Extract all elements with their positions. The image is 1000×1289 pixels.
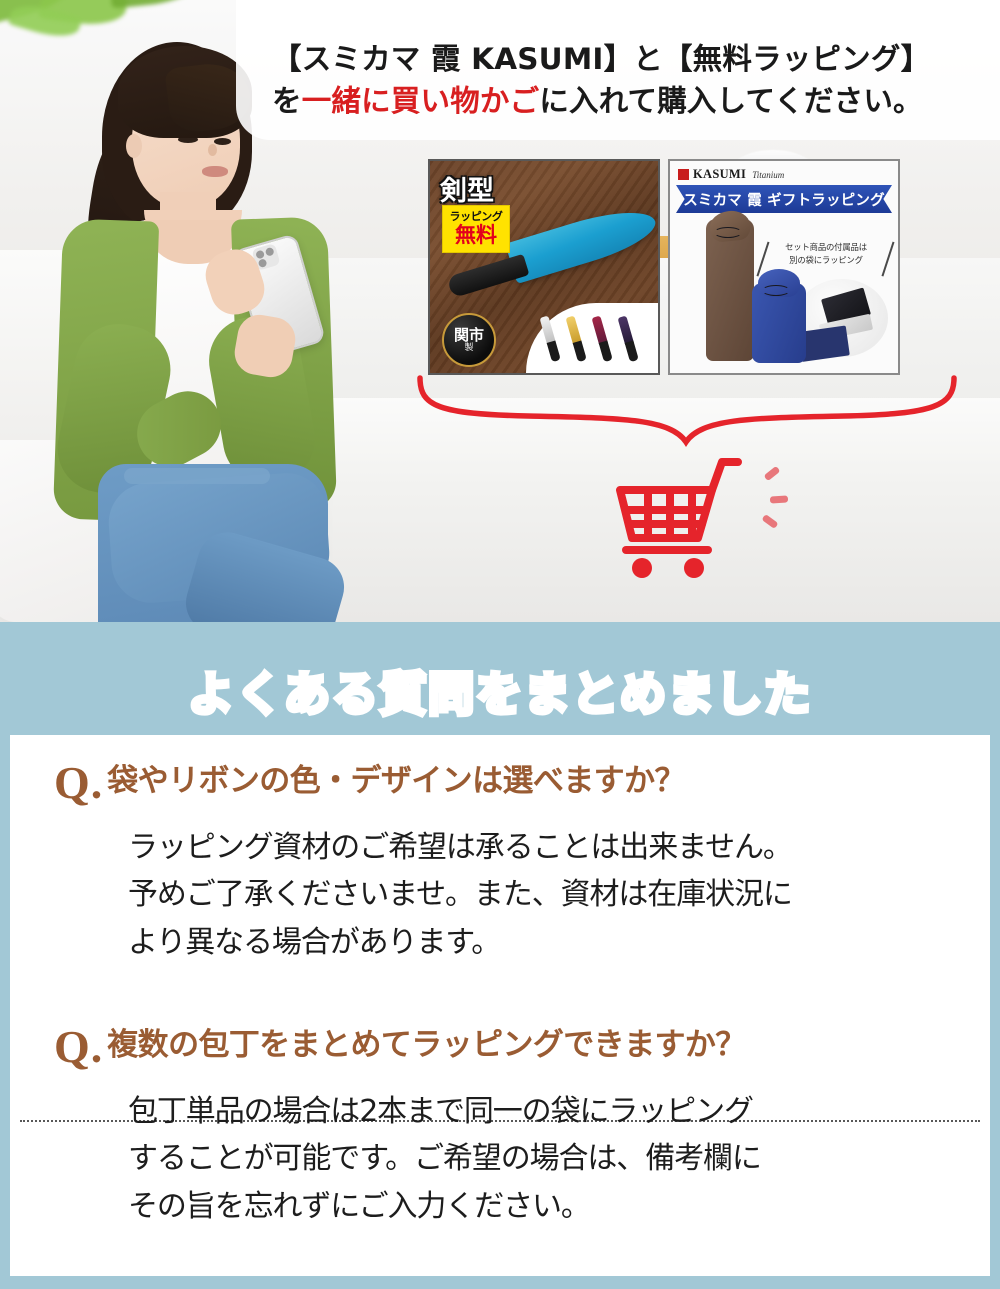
faq-answer-2-line-1: 包丁単品の場合は2本まで同一の袋にラッピング <box>128 1088 990 1135</box>
headline-line-1: 【スミカマ 霞 KASUMI】と【無料ラッピング】 <box>272 38 1000 80</box>
faq-question-row-1: Q . 袋やリボンの色・デザインは選べますか？ <box>10 763 990 806</box>
product-card-knife[interactable]: 剣型 ラッピング 無料 <box>428 159 660 375</box>
faq-question-row-2: Q . 複数の包丁をまとめてラッピングできますか？ <box>10 1027 990 1070</box>
knife-variant-gold <box>565 316 586 363</box>
badge-top-label: ラッピング <box>450 211 503 222</box>
note-text-line-1: セット商品の付属品は <box>774 241 878 254</box>
knife-variant-purple <box>617 316 638 363</box>
q-dot-1: . <box>91 760 103 806</box>
headline: 【スミカマ 霞 KASUMI】と【無料ラッピング】 を一緒に買い物かごに入れて購… <box>272 38 1000 123</box>
badge-bottom-label: 無料 <box>455 224 497 246</box>
faq-answer-1-line-1: ラッピング資材のご希望は承ることは出来ません。 <box>128 824 990 871</box>
faq-card: Q . 袋やリボンの色・デザインは選べますか？ ラッピング資材のご希望は承ること… <box>10 735 990 1276</box>
q-dot-2: . <box>91 1024 103 1070</box>
seal-sub-label: 製 <box>464 344 473 353</box>
promo-page: 【スミカマ 霞 KASUMI】と【無料ラッピング】 を一緒に買い物かごに入れて購… <box>0 0 1000 1289</box>
jeans-waistband <box>124 468 270 484</box>
knife-variant-crimson <box>591 316 612 363</box>
kasumi-logo: KASUMI Titanium <box>678 167 784 182</box>
faq-answer-2: 包丁単品の場合は2本まで同一の袋にラッピング することが可能です。ご希望の場合は… <box>10 1088 990 1230</box>
q-letter-2: Q <box>54 1024 90 1070</box>
knife-type-label: 剣型 <box>440 169 494 208</box>
free-wrapping-badge: ラッピング 無料 <box>442 205 510 253</box>
nose <box>208 144 217 156</box>
faq-answer-2-line-3: その旨を忘れずにご入力ください。 <box>128 1183 990 1230</box>
note-text: セット商品の付属品は 別の袋にラッピング <box>774 241 878 267</box>
wrapping-ribbon-banner: スミカマ 霞 ギフトラッピング <box>676 185 892 213</box>
kasumi-mark-icon <box>678 169 689 180</box>
seal-main-label: 関市 <box>454 328 484 343</box>
bow-blue <box>762 285 790 296</box>
faq-title: よくある質問をまとめました <box>0 658 1000 724</box>
faq-section: よくある質問をまとめました Q . 袋やリボンの色・デザインは選べますか？ ラッ… <box>0 622 1000 1289</box>
faq-answer-1-line-2: 予めご了承くださいませ。また、資材は在庫状況に <box>128 871 990 918</box>
eye-right <box>214 138 231 145</box>
knife-variant-silver <box>539 316 560 363</box>
hero-section: 【スミカマ 霞 KASUMI】と【無料ラッピング】 を一緒に買い物かごに入れて購… <box>0 0 1000 622</box>
headline-highlight: 一緒に買い物かご <box>302 84 540 118</box>
faq-answer-1-line-3: より異なる場合があります。 <box>128 919 990 966</box>
wrapping-note: セット商品の付属品は 別の袋にラッピング <box>762 239 888 279</box>
product-card-wrapping[interactable]: KASUMI Titanium スミカマ 霞 ギフトラッピング セット商品の付属… <box>668 159 900 375</box>
seki-city-seal: 関市 製 <box>442 313 496 367</box>
kasumi-brand-text: KASUMI <box>693 167 746 182</box>
headline-suffix: に入れて購入してください。 <box>539 84 922 118</box>
faq-item-1: Q . 袋やリボンの色・デザインは選べますか？ ラッピング資材のご希望は承ること… <box>10 763 990 966</box>
ribbon-label: スミカマ 霞 ギフトラッピング <box>683 189 885 210</box>
faq-question-1: 袋やリボンの色・デザインは選べますか？ <box>107 763 685 800</box>
faq-item-2: Q . 複数の包丁をまとめてラッピングできますか？ 包丁単品の場合は2本まで同一… <box>10 1027 990 1230</box>
note-text-line-2: 別の袋にラッピング <box>774 254 878 267</box>
faq-answer-1: ラッピング資材のご希望は承ることは出来ません。 予めご了承くださいませ。また、資… <box>10 824 990 966</box>
lips <box>202 166 228 177</box>
headline-prefix: を <box>272 84 302 118</box>
faq-answer-2-line-2: することが可能です。ご希望の場合は、備考欄に <box>128 1135 990 1182</box>
curly-brace-arrow-icon <box>408 372 968 450</box>
bow-brown <box>714 227 742 238</box>
shopping-cart-icon <box>612 452 744 580</box>
ear <box>126 134 142 158</box>
faq-question-2: 複数の包丁をまとめてラッピングできますか？ <box>107 1027 745 1064</box>
kasumi-brand-suffix: Titanium <box>752 170 784 180</box>
q-letter-1: Q <box>54 760 90 806</box>
sparkle-2 <box>770 495 788 503</box>
headline-line-2: を一緒に買い物かごに入れて購入してください。 <box>272 80 1000 122</box>
